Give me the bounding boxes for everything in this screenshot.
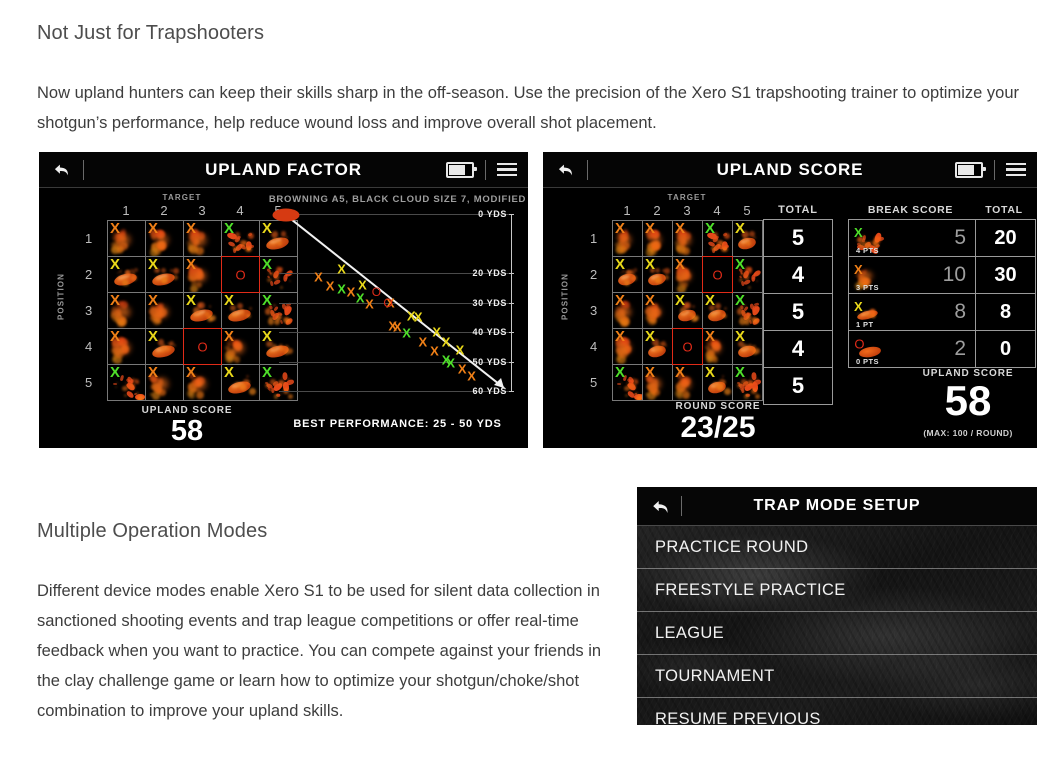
chart-hit-point: X xyxy=(467,370,476,383)
hit-marker-icon: X xyxy=(675,365,685,380)
break-score-category: X1 PT8 xyxy=(848,293,976,331)
grid-cell-miss[interactable]: O xyxy=(221,256,260,293)
break-score-row: X1 PT88 xyxy=(848,294,1036,331)
grid-cell-hit[interactable]: X xyxy=(733,257,763,293)
grid-cell-hit[interactable]: X xyxy=(613,221,643,257)
y-axis-label: 40 YDS xyxy=(463,327,507,337)
grid-cell-hit[interactable]: X xyxy=(184,293,222,329)
grid-cell-hit[interactable]: X xyxy=(643,365,673,401)
trap-mode-item-tournament[interactable]: TOURNAMENT xyxy=(637,655,1037,698)
hit-marker-icon: X xyxy=(262,293,272,308)
grid-cell-miss[interactable]: O xyxy=(702,256,733,293)
hit-marker-icon: X xyxy=(854,299,863,314)
hit-marker-icon: X xyxy=(186,257,196,272)
column-number: 2 xyxy=(642,203,672,218)
hit-marker-icon: X xyxy=(645,293,655,308)
trap-mode-item-practice-round[interactable]: PRACTICE ROUND xyxy=(637,526,1037,569)
row-number: 2 xyxy=(590,256,603,292)
column-number: 3 xyxy=(672,203,702,218)
us-total-header: TOTAL xyxy=(763,204,833,216)
grid-cell-hit[interactable]: X xyxy=(643,293,673,329)
grid-cell-hit[interactable]: X xyxy=(108,365,146,401)
y-axis-tick xyxy=(509,214,514,215)
hit-marker-icon: X xyxy=(224,329,234,344)
us-upland-score-value: 58 xyxy=(898,378,1037,424)
trap-mode-header: TRAP MODE SETUP xyxy=(637,487,1037,526)
chart-hit-point: X xyxy=(402,327,411,340)
break-score-count: 5 xyxy=(954,226,966,250)
grid-cell-hit[interactable]: X xyxy=(184,365,222,401)
chart-hit-point: X xyxy=(446,356,455,369)
column-number: 5 xyxy=(732,203,762,218)
us-row-numbers: 12345 xyxy=(590,220,603,400)
row-number: 5 xyxy=(85,364,98,400)
break-score-points-label: 0 PTS xyxy=(856,357,879,366)
grid-cell-hit[interactable]: X xyxy=(146,293,184,329)
trap-mode-item-resume-previous[interactable]: RESUME PREVIOUS xyxy=(637,698,1037,725)
trap-mode-item-freestyle-practice[interactable]: FREESTYLE PRACTICE xyxy=(637,569,1037,612)
column-number: 4 xyxy=(702,203,732,218)
grid-cell-hit[interactable]: X xyxy=(146,365,184,401)
grid-cell-hit[interactable]: X xyxy=(643,329,673,365)
us-column-numbers: 12345 xyxy=(612,203,762,218)
grid-cell-hit[interactable]: X xyxy=(222,221,260,257)
us-break-total-header: TOTAL xyxy=(975,204,1033,216)
hit-marker-icon: X xyxy=(735,365,745,380)
us-target-label: TARGET xyxy=(612,193,762,202)
grid-cell-hit[interactable]: X xyxy=(613,257,643,293)
us-upland-score-note: (MAX: 100 / ROUND) xyxy=(898,428,1037,438)
chart-hit-point: X xyxy=(337,283,346,296)
grid-cell-hit[interactable]: X xyxy=(673,293,703,329)
y-axis-label: 60 YDS xyxy=(463,386,507,396)
row-number: 2 xyxy=(85,256,98,292)
battery-icon xyxy=(955,162,983,178)
miss-marker-icon: O xyxy=(854,337,864,352)
us-round-score-value: 23/25 xyxy=(603,411,833,445)
break-score-category: O0 PTS2 xyxy=(848,330,976,368)
chart-hit-point: X xyxy=(456,343,465,356)
hit-marker-icon: X xyxy=(675,257,685,272)
trap-mode-list: PRACTICE ROUNDFREESTYLE PRACTICELEAGUETO… xyxy=(637,526,1037,725)
hit-marker-icon: X xyxy=(615,365,625,380)
grid-cell-hit[interactable]: X xyxy=(703,293,733,329)
hit-marker-icon: X xyxy=(645,257,655,272)
row-number: 3 xyxy=(85,292,98,328)
grid-cell-hit[interactable]: X xyxy=(222,329,260,365)
break-score-count: 8 xyxy=(954,300,966,324)
grid-cell-hit[interactable]: X xyxy=(703,329,733,365)
y-axis-label: 30 YDS xyxy=(463,298,507,308)
chart-hit-point: X xyxy=(432,326,441,339)
grid-cell-hit[interactable]: X xyxy=(643,257,673,293)
hit-marker-icon: X xyxy=(705,365,715,380)
grid-cell-hit[interactable]: X xyxy=(643,221,673,257)
row-total-cell: 5 xyxy=(763,219,833,257)
miss-marker-icon: O xyxy=(682,339,692,354)
trap-mode-item-league[interactable]: LEAGUE xyxy=(637,612,1037,655)
row-number: 4 xyxy=(85,328,98,364)
break-score-row: X4 PTS520 xyxy=(848,220,1036,257)
section-paragraph-1: Now upland hunters can keep their skills… xyxy=(37,78,1027,138)
grid-cell-hit[interactable]: X xyxy=(146,257,184,293)
hit-marker-icon: X xyxy=(262,221,272,236)
grid-cell-hit[interactable]: X xyxy=(613,293,643,329)
grid-cell-hit[interactable]: X xyxy=(613,329,643,365)
row-total-cell: 5 xyxy=(763,293,833,331)
upland-score-header: UPLAND SCORE xyxy=(543,152,1037,188)
y-axis-label: 20 YDS xyxy=(463,268,507,278)
hit-marker-icon: X xyxy=(735,293,745,308)
hit-marker-icon: X xyxy=(705,221,715,236)
chart-hit-point: X xyxy=(326,280,335,293)
miss-marker-icon: O xyxy=(235,267,245,282)
uf-target-label: TARGET xyxy=(107,193,257,202)
grid-cell-hit[interactable]: X xyxy=(673,365,703,401)
hit-marker-icon: X xyxy=(645,221,655,236)
device-screen-upland-factor: UPLAND FACTOR TARGET 12345 POSITION 1234… xyxy=(39,152,528,448)
row-number: 4 xyxy=(590,328,603,364)
section-heading-not-just-for-trapshooters: Not Just for Trapshooters xyxy=(37,22,264,45)
grid-cell-hit[interactable]: X xyxy=(673,221,703,257)
device-screen-trap-mode-setup: TRAP MODE SETUP PRACTICE ROUNDFREESTYLE … xyxy=(637,487,1037,725)
chart-hit-point: X xyxy=(393,320,402,333)
clay-target-marker xyxy=(272,209,299,222)
section-paragraph-2: Different device modes enable Xero S1 to… xyxy=(37,576,607,726)
break-score-category: X3 PTS10 xyxy=(848,256,976,294)
break-score-row: O0 PTS20 xyxy=(848,331,1036,368)
grid-cell-hit[interactable]: X xyxy=(733,329,763,365)
chart-hit-point: X xyxy=(337,262,346,275)
chart-hit-point: X xyxy=(347,286,356,299)
grid-cell-hit[interactable]: X xyxy=(733,293,763,329)
y-axis-tick xyxy=(509,332,514,333)
hit-marker-icon: X xyxy=(110,257,120,272)
hit-marker-icon: X xyxy=(615,293,625,308)
grid-cell-hit[interactable]: X xyxy=(108,257,146,293)
chart-hit-point: X xyxy=(430,345,439,358)
row-total-cell: 4 xyxy=(763,330,833,368)
hit-marker-icon: X xyxy=(262,365,272,380)
miss-marker-icon: O xyxy=(197,339,207,354)
hit-marker-icon: X xyxy=(615,329,625,344)
break-score-points-label: 3 PTS xyxy=(856,283,879,292)
uf-row-numbers: 12345 xyxy=(85,220,98,400)
hit-marker-icon: X xyxy=(854,262,863,277)
uf-best-performance: BEST PERFORMANCE: 25 - 50 YDS xyxy=(267,418,528,430)
row-number: 1 xyxy=(590,220,603,256)
grid-cell-hit[interactable]: X xyxy=(222,293,260,329)
grid-cell-hit[interactable]: X xyxy=(673,257,703,293)
grid-cell-hit[interactable]: X xyxy=(703,221,733,257)
page-root: Not Just for Trapshooters Now upland hun… xyxy=(0,0,1053,776)
hit-marker-icon: X xyxy=(705,293,715,308)
hit-marker-icon: X xyxy=(224,293,234,308)
break-score-count: 10 xyxy=(943,263,966,287)
break-score-points-label: 1 PT xyxy=(856,320,873,329)
break-score-count: 2 xyxy=(954,337,966,361)
chart-hit-point: X xyxy=(442,336,451,349)
grid-cell-hit[interactable]: X xyxy=(108,293,146,329)
grid-cell-hit[interactable]: X xyxy=(184,221,222,257)
hit-marker-icon: X xyxy=(186,293,196,308)
hit-marker-icon: X xyxy=(645,329,655,344)
chart-hit-point: X xyxy=(356,292,365,305)
y-axis-tick xyxy=(509,362,514,363)
row-total-cell: 4 xyxy=(763,256,833,294)
grid-cell-hit[interactable]: X xyxy=(733,221,763,257)
chart-hit-point: X xyxy=(418,336,427,349)
hit-marker-icon: X xyxy=(224,221,234,236)
hit-marker-icon: X xyxy=(262,329,272,344)
uf-chart: BROWNING A5, BLACK CLOUD SIZE 7, MODIFIE… xyxy=(267,152,528,448)
column-number: 4 xyxy=(221,203,259,218)
grid-cell-hit[interactable]: X xyxy=(146,329,184,365)
y-axis-tick xyxy=(509,303,514,304)
us-totals-column: 54545 xyxy=(763,220,833,405)
hit-marker-icon: X xyxy=(224,365,234,380)
hit-marker-icon: X xyxy=(262,257,272,272)
chart-hit-point: X xyxy=(414,311,423,324)
hit-marker-icon: X xyxy=(705,329,715,344)
uf-footer-value: 58 xyxy=(87,415,287,448)
trap-mode-title: TRAP MODE SETUP xyxy=(637,497,1037,515)
break-score-row: X3 PTS1030 xyxy=(848,257,1036,294)
hit-marker-icon: X xyxy=(645,365,655,380)
us-break-score-table: X4 PTS520X3 PTS1030X1 PT88O0 PTS20 xyxy=(848,220,1036,368)
hit-marker-icon: X xyxy=(735,329,745,344)
hit-marker-icon: X xyxy=(615,257,625,272)
uf-chart-title: BROWNING A5, BLACK CLOUD SIZE 7, MODIFIE… xyxy=(267,194,528,205)
y-axis-tick xyxy=(509,273,514,274)
grid-cell-hit[interactable]: X xyxy=(108,329,146,365)
grid-cell-hit[interactable]: X xyxy=(733,365,763,401)
grid-cell-hit[interactable]: X xyxy=(222,365,260,401)
grid-cell-hit[interactable]: X xyxy=(703,365,733,401)
row-total-cell: 5 xyxy=(763,367,833,405)
section-heading-multiple-operation-modes: Multiple Operation Modes xyxy=(37,520,267,543)
hit-marker-icon: X xyxy=(148,257,158,272)
break-score-total: 20 xyxy=(975,219,1036,257)
us-cell-grid: XXXXXXXXOXXXXXXXXOXXXXXXX xyxy=(612,220,763,401)
break-score-total: 30 xyxy=(975,256,1036,294)
grid-cell-hit[interactable]: X xyxy=(146,221,184,257)
break-score-points-label: 4 PTS xyxy=(856,246,879,255)
grid-cell-hit[interactable]: X xyxy=(108,221,146,257)
hit-marker-icon: X xyxy=(675,221,685,236)
column-number: 1 xyxy=(107,203,145,218)
hit-marker-icon: X xyxy=(854,225,863,240)
chart-hit-point: X xyxy=(358,278,367,291)
uf-position-label: POSITION xyxy=(57,267,66,327)
hit-marker-icon: X xyxy=(735,257,745,272)
column-number: 2 xyxy=(145,203,183,218)
grid-cell-miss[interactable]: O xyxy=(672,328,703,365)
hit-marker-icon: X xyxy=(615,221,625,236)
hit-marker-icon: X xyxy=(148,221,158,236)
hit-marker-icon: X xyxy=(148,365,158,380)
grid-cell-hit[interactable]: X xyxy=(613,365,643,401)
column-number: 3 xyxy=(183,203,221,218)
y-axis-label: 0 YDS xyxy=(463,209,507,219)
y-axis-tick xyxy=(509,391,514,392)
chart-hit-point: X xyxy=(365,297,374,310)
column-number: 1 xyxy=(612,203,642,218)
hit-marker-icon: X xyxy=(110,329,120,344)
hit-marker-icon: X xyxy=(675,293,685,308)
hit-marker-icon: X xyxy=(186,365,196,380)
grid-cell-hit[interactable]: X xyxy=(184,257,222,293)
chart-hit-point: X xyxy=(314,271,323,284)
grid-cell-miss[interactable]: O xyxy=(183,328,222,365)
chart-miss-point: O xyxy=(383,297,392,309)
y-axis-label: 50 YDS xyxy=(463,357,507,367)
hit-marker-icon: X xyxy=(186,221,196,236)
break-score-total: 8 xyxy=(975,293,1036,331)
hit-marker-icon: X xyxy=(148,329,158,344)
row-number: 3 xyxy=(590,292,603,328)
miss-marker-icon: O xyxy=(712,267,722,282)
hit-marker-icon: X xyxy=(735,221,745,236)
hit-marker-icon: X xyxy=(148,293,158,308)
us-position-label: POSITION xyxy=(561,267,570,327)
device-screen-upland-score: UPLAND SCORE TARGET 12345 POSITION 12345… xyxy=(543,152,1037,448)
row-number: 1 xyxy=(85,220,98,256)
hit-marker-icon: X xyxy=(110,365,120,380)
row-number: 5 xyxy=(590,364,603,400)
break-score-category: X4 PTS5 xyxy=(848,219,976,257)
us-break-score-header: BREAK SCORE xyxy=(848,204,973,216)
hit-marker-icon: X xyxy=(110,221,120,236)
break-score-total: 0 xyxy=(975,330,1036,368)
hit-marker-icon: X xyxy=(110,293,120,308)
